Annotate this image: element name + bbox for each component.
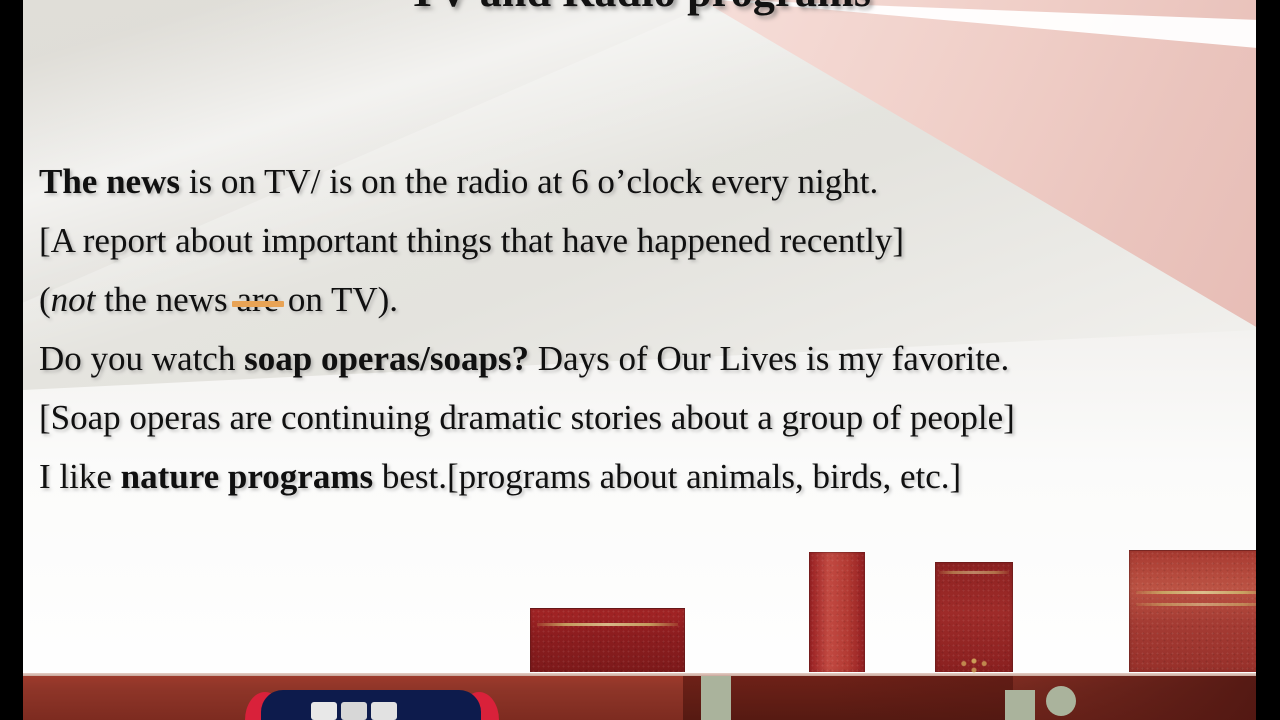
body-line-5: [Soap operas are continuing dramatic sto… [39,388,1256,447]
line-2-text: [A report about important things that ha… [39,221,904,260]
gold-line-icon [1136,603,1256,606]
slide-canvas: TV and Radio programs The news is on TV/… [23,0,1256,720]
banner-shape-2 [341,702,367,720]
book-shelf-decoration [23,540,1256,720]
book-spine-1 [530,608,685,672]
body-line-2: [A report about important things that ha… [39,211,1256,270]
slide-body: The news is on TV/ is on the radio at 6 … [39,152,1256,506]
line-1-bold-phrase: The news [39,162,180,201]
line-6-pre: I like [39,457,121,496]
letterbox-bar-right [1256,0,1280,720]
line-5-text: [Soap operas are continuing dramatic sto… [39,398,1015,437]
line-4-pre: Do you watch [39,339,244,378]
sage-square-shape [701,676,731,720]
line-3-mid: the news [95,280,236,319]
sage-circle-shape [1046,686,1076,716]
book-spine-4 [1129,550,1256,672]
line-4-post: Days of Our Lives is my favorite. [529,339,1009,378]
slide-title: TV and Radio programs [23,0,1256,17]
line-4-bold-phrase: soap operas/soaps? [244,339,529,378]
body-line-1: The news is on TV/ is on the radio at 6 … [39,152,1256,211]
line-1-rest: is on TV/ is on the radio at 6 o’clock e… [180,162,878,201]
gold-line-icon [939,571,1009,574]
gold-ornament-icon [957,648,991,674]
line-6-bold-phrase: nature programs [121,457,373,496]
line-3-end: on TV). [279,280,398,319]
body-line-3: (not the news are on TV). [39,270,1256,329]
line-6-post: best.[programs about animals, birds, etc… [373,457,961,496]
body-line-4: Do you watch soap operas/soaps? Days of … [39,329,1256,388]
gold-line-icon [1136,591,1256,594]
line-3-italic-not: not [51,280,96,319]
book-spine-3 [935,562,1013,672]
book-spine-2 [809,552,865,672]
line-3-open-paren: ( [39,280,51,319]
slide-screen: TV and Radio programs The news is on TV/… [0,0,1280,720]
body-line-6: I like nature programs best.[programs ab… [39,447,1256,506]
banner-shape-3 [371,702,397,720]
sage-square-shape [1005,690,1035,720]
line-3-strikethrough-are: are [236,270,279,329]
banner-shape-1 [311,702,337,720]
letterbox-bar-left [0,0,23,720]
gold-line-icon [537,623,678,626]
shelf-shadow-right [826,676,1256,720]
